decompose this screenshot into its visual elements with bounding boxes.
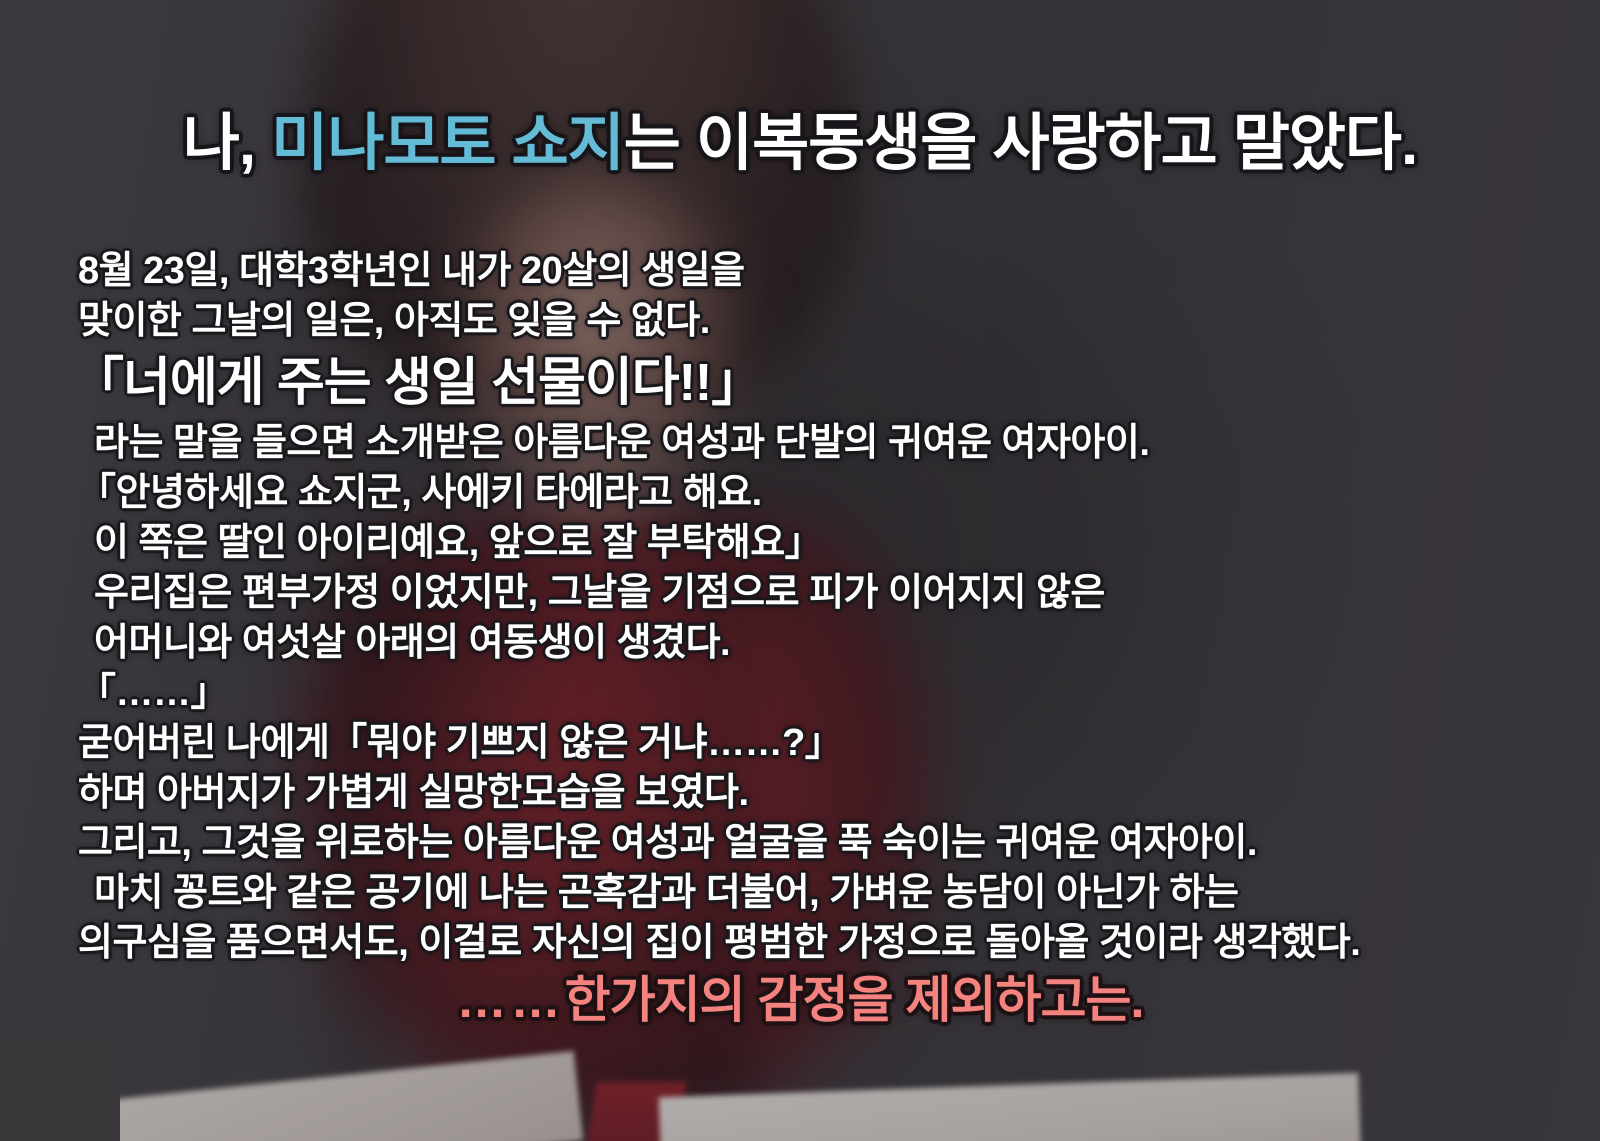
narration-line-emphasis: 「너에게 주는 생일 선물이다!!」: [72, 350, 1548, 416]
closing-text: 한가지의 감정을 제외하고는.: [565, 972, 1144, 1028]
narration-line: 그리고, 그것을 위로하는 아름다운 여성과 얼굴을 푹 숙이는 귀여운 여자아…: [78, 818, 1548, 868]
title-part-after: 는 이복동생을 사랑하고 말았다.: [624, 109, 1417, 178]
narration-line: 라는 말을 들으면 소개받은 아름다운 여성과 단발의 귀여운 여자아이.: [78, 418, 1548, 468]
narration-line: 하며 아버지가 가볍게 실망한모습을 보였다.: [78, 768, 1548, 818]
webtoon-page: 나, 미나모토 쇼지는 이복동생을 사랑하고 말았다. 8월 23일, 대학3학…: [0, 0, 1600, 1141]
page-title: 나, 미나모토 쇼지는 이복동생을 사랑하고 말았다.: [0, 92, 1600, 182]
title-character-name: 미나모토 쇼지: [271, 109, 623, 178]
narration-line: 「안녕하세요 쇼지군, 사에키 타에라고 해요.: [78, 468, 1548, 518]
narration-line: 굳어버린 나에게「뭐야 기쁘지 않은 거냐……?」: [78, 718, 1548, 768]
narration-body: 8월 23일, 대학3학년인 내가 20살의 생일을 맞이한 그날의 일은, 아…: [78, 246, 1548, 968]
closing-line: ……한가지의 감정을 제외하고는.: [0, 960, 1600, 1032]
narration-line: 8월 23일, 대학3학년인 내가 20살의 생일을: [78, 246, 1548, 296]
narration-line: 이 쪽은 딸인 아이리예요, 앞으로 잘 부탁해요」: [78, 518, 1548, 568]
closing-ellipsis: ……: [457, 972, 565, 1028]
narration-line: 「……」: [78, 668, 1548, 718]
narration-content: 나, 미나모토 쇼지는 이복동생을 사랑하고 말았다. 8월 23일, 대학3학…: [0, 0, 1600, 1141]
narration-line: 우리집은 편부가정 이었지만, 그날을 기점으로 피가 이어지지 않은: [78, 568, 1548, 618]
title-part-before: 나,: [183, 109, 272, 178]
narration-line: 맞이한 그날의 일은, 아직도 잊을 수 없다.: [78, 296, 1548, 346]
narration-line: 어머니와 여섯살 아래의 여동생이 생겼다.: [78, 618, 1548, 668]
narration-line: 마치 꽁트와 같은 공기에 나는 곤혹감과 더불어, 가벼운 농담이 아닌가 하…: [78, 868, 1548, 918]
